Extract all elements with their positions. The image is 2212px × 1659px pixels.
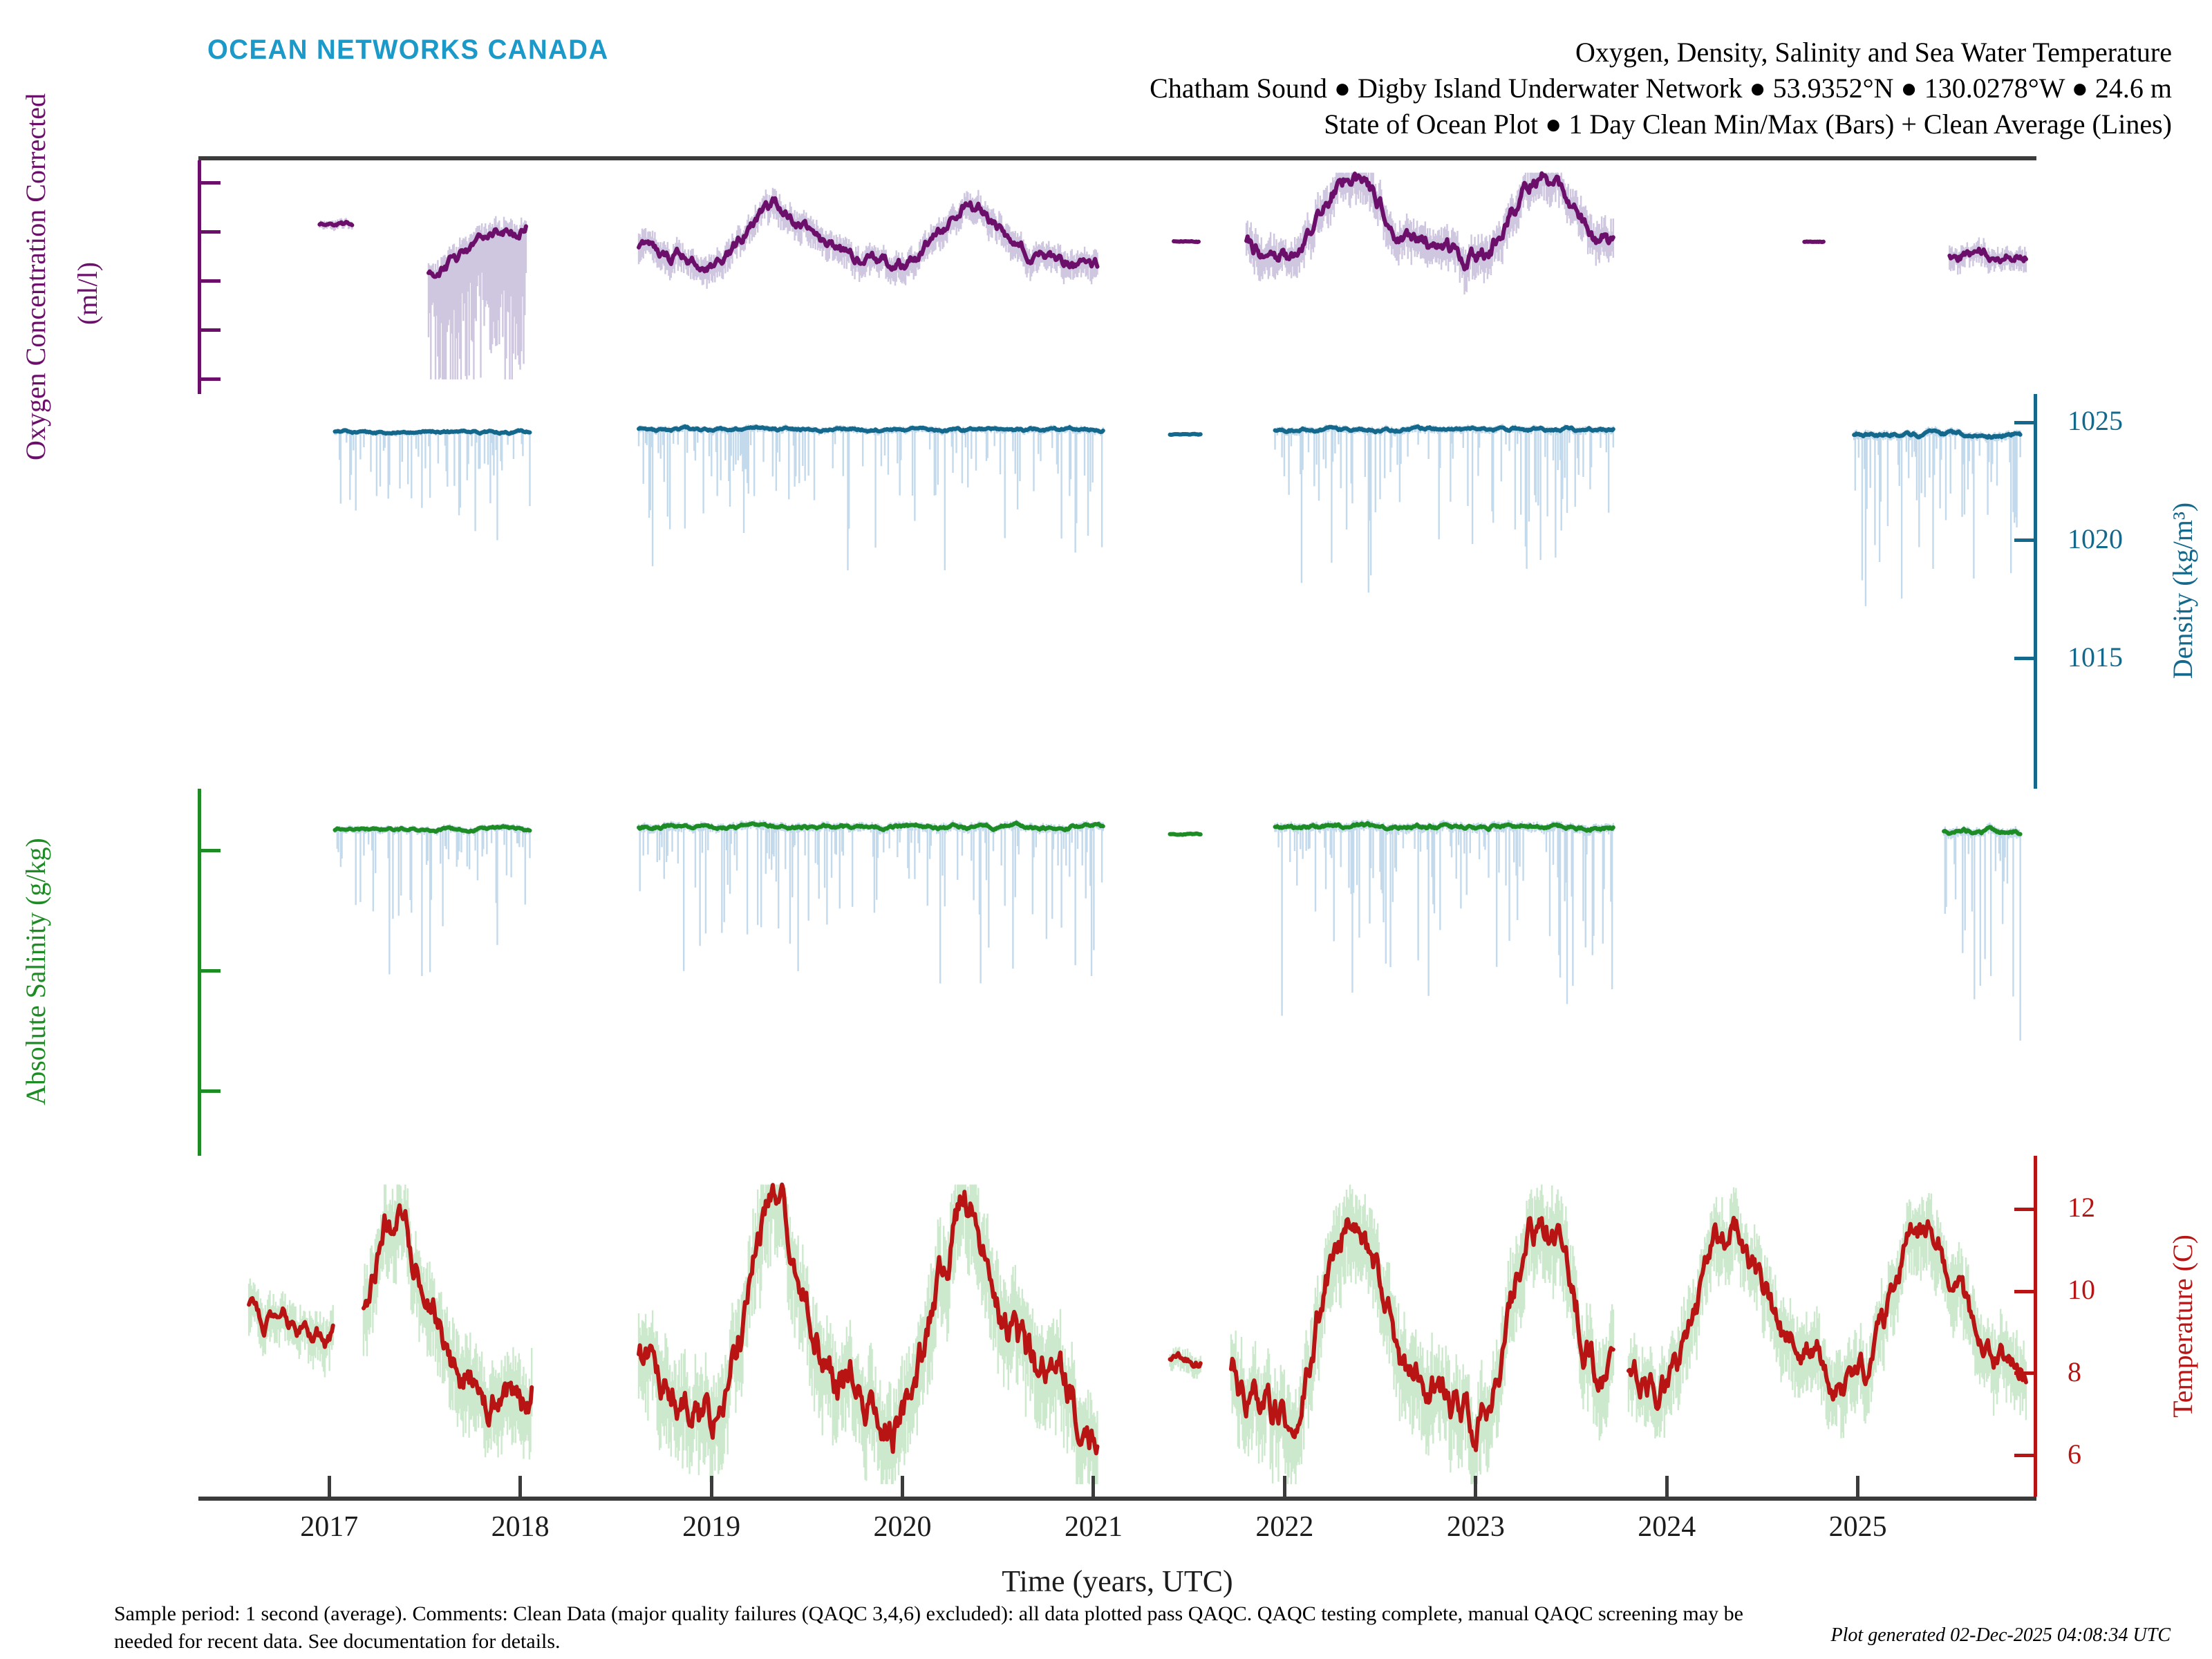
xtick-label-2017: 2017 bbox=[300, 1510, 358, 1544]
xtick-label-2018: 2018 bbox=[491, 1510, 550, 1544]
average-line-oxygen bbox=[1174, 241, 1199, 242]
ytick-oxygen-4 bbox=[201, 279, 221, 283]
ytick-temperature-10 bbox=[2014, 1290, 2034, 1293]
xtick-label-2022: 2022 bbox=[1255, 1510, 1313, 1544]
axis-title-salinity: Absolute Salinity (g/kg) bbox=[19, 838, 51, 1105]
ytick-salinity-25 bbox=[201, 969, 221, 973]
xtick-2021 bbox=[1091, 1476, 1095, 1497]
ytick-oxygen-2 bbox=[201, 328, 221, 332]
series-salinity bbox=[335, 819, 2021, 1040]
average-line-salinity bbox=[1944, 827, 2021, 834]
plot-generated-stamp: Plot generated 02-Dec-2025 04:08:34 UTC bbox=[1831, 1624, 2171, 1647]
average-line-density bbox=[335, 430, 530, 433]
xtick-label-2025: 2025 bbox=[1829, 1510, 1887, 1544]
xtick-label-2019: 2019 bbox=[682, 1510, 740, 1544]
minmax-bars-density bbox=[335, 428, 530, 541]
minmax-bars-density bbox=[639, 424, 1103, 570]
ytick-temperature-12 bbox=[2014, 1208, 2034, 1211]
axis-spine-oxygen bbox=[198, 160, 201, 394]
minmax-bars-salinity bbox=[1275, 819, 1613, 1015]
title-line-2: Chatham Sound ● Digby Island Underwater … bbox=[1150, 71, 2172, 106]
xaxis-title: Time (years, UTC) bbox=[201, 1564, 2034, 1599]
ytick-label-density-1015: 1015 bbox=[2068, 644, 2123, 671]
xtick-2024 bbox=[1665, 1476, 1669, 1497]
xtick-label-2023: 2023 bbox=[1447, 1510, 1505, 1544]
minmax-bars-oxygen bbox=[639, 188, 1097, 289]
minmax-bars-density bbox=[1854, 427, 2021, 606]
series-canvas bbox=[201, 160, 2034, 1497]
minmax-bars-density bbox=[1275, 424, 1613, 593]
ytick-temperature-8 bbox=[2014, 1371, 2034, 1375]
plot-title-block: Oxygen, Density, Salinity and Sea Water … bbox=[1150, 35, 2172, 142]
series-oxygen bbox=[319, 173, 2026, 379]
xtick-2017 bbox=[328, 1476, 331, 1497]
xtick-2025 bbox=[1856, 1476, 1859, 1497]
axis-title-oxygen: Oxygen Concentration Corrected bbox=[19, 93, 51, 460]
plot-frame-bottom bbox=[198, 1497, 2036, 1501]
title-line-3: State of Ocean Plot ● 1 Day Clean Min/Ma… bbox=[1150, 106, 2172, 142]
xtick-2022 bbox=[1283, 1476, 1286, 1497]
series-temperature bbox=[249, 1185, 2026, 1485]
minmax-bars-oxygen bbox=[1246, 173, 1613, 294]
ytick-label-temperature-6: 6 bbox=[2068, 1441, 2081, 1468]
xtick-label-2021: 2021 bbox=[1065, 1510, 1123, 1544]
xtick-2018 bbox=[518, 1476, 522, 1497]
minmax-bars-salinity bbox=[1944, 823, 2021, 1041]
minmax-bars-salinity bbox=[335, 823, 530, 976]
ytick-density-1015 bbox=[2014, 657, 2034, 660]
xtick-2020 bbox=[901, 1476, 904, 1497]
minmax-bars-salinity bbox=[639, 819, 1103, 983]
ytick-oxygen-6 bbox=[201, 230, 221, 234]
plot-area: 02468Oxygen Concentration Corrected10151… bbox=[201, 160, 2034, 1497]
axis-unit-oxygen: (ml/l) bbox=[71, 262, 104, 325]
state-of-ocean-plot-page: OCEAN NETWORKS CANADA Oxygen, Density, S… bbox=[0, 0, 2212, 1659]
ytick-label-temperature-12: 12 bbox=[2068, 1194, 2095, 1221]
ytick-temperature-6 bbox=[2014, 1454, 2034, 1457]
ytick-label-temperature-10: 10 bbox=[2068, 1276, 2095, 1304]
ytick-salinity-20 bbox=[201, 1089, 221, 1093]
axis-title-temperature: Temperature (C) bbox=[2166, 1235, 2198, 1418]
xtick-label-2020: 2020 bbox=[874, 1510, 932, 1544]
axis-title-density: Density (kg/m³) bbox=[2166, 503, 2199, 679]
average-line-salinity bbox=[335, 826, 530, 832]
series-density bbox=[335, 424, 2021, 606]
ytick-label-density-1025: 1025 bbox=[2068, 407, 2123, 435]
ytick-density-1025 bbox=[2014, 421, 2034, 424]
xtick-2019 bbox=[710, 1476, 713, 1497]
xtick-label-2024: 2024 bbox=[1638, 1510, 1696, 1544]
footer-note: Sample period: 1 second (average). Comme… bbox=[114, 1600, 1773, 1656]
average-line-density bbox=[639, 427, 1103, 432]
axis-spine-temperature bbox=[2034, 1156, 2037, 1497]
average-line-salinity bbox=[1170, 834, 1201, 835]
title-line-1: Oxygen, Density, Salinity and Sea Water … bbox=[1150, 35, 2172, 71]
xtick-2023 bbox=[1474, 1476, 1477, 1497]
ytick-label-temperature-8: 8 bbox=[2068, 1358, 2081, 1386]
ocean-networks-canada-logo: OCEAN NETWORKS CANADA bbox=[207, 35, 609, 66]
ytick-label-density-1020: 1020 bbox=[2068, 525, 2123, 553]
average-line-oxygen bbox=[1804, 241, 1824, 242]
ytick-oxygen-0 bbox=[201, 377, 221, 381]
ytick-salinity-30 bbox=[201, 849, 221, 852]
minmax-bars-temperature bbox=[1629, 1188, 2026, 1438]
average-line-density bbox=[1170, 434, 1201, 435]
ytick-oxygen-8 bbox=[201, 181, 221, 185]
axis-spine-density bbox=[2034, 394, 2037, 788]
ytick-density-1020 bbox=[2014, 538, 2034, 542]
